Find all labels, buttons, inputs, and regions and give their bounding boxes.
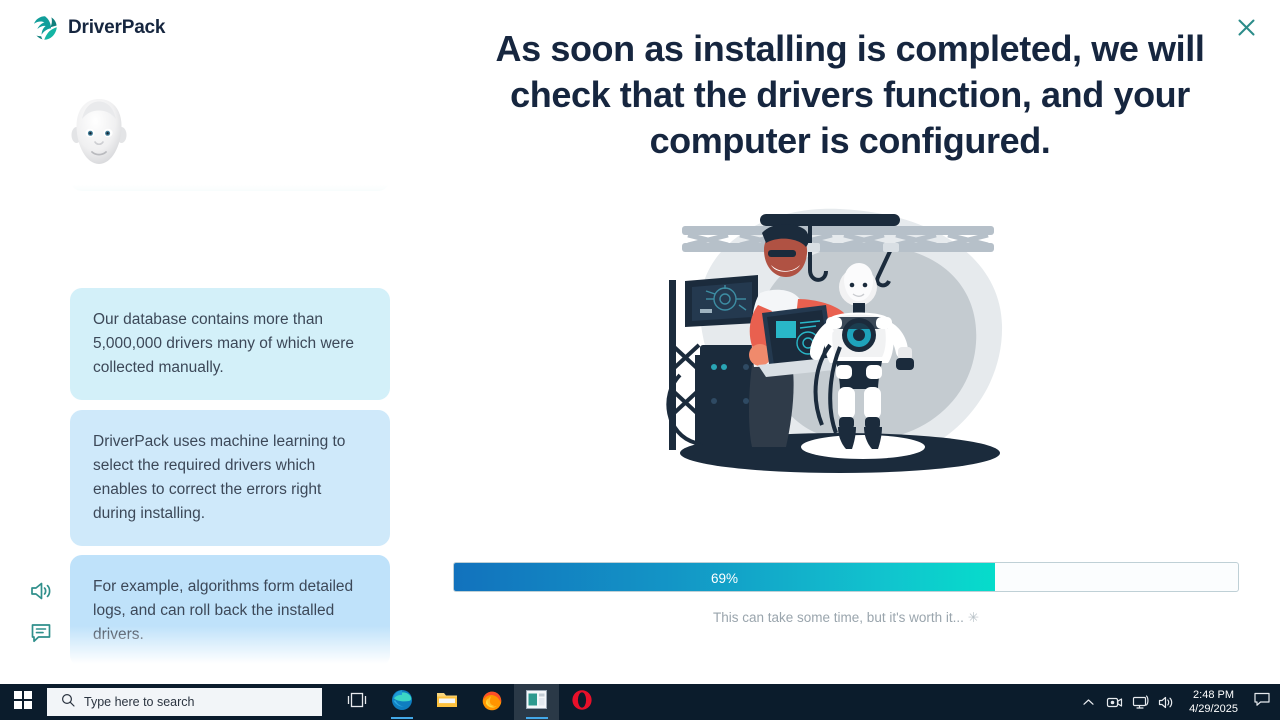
avatar bbox=[68, 97, 130, 169]
task-view-button[interactable] bbox=[334, 684, 379, 720]
search-icon bbox=[61, 693, 75, 712]
chat-bubble-list[interactable]: of tea so far. Our database contains mor… bbox=[0, 185, 420, 684]
chat-bubble: of tea so far. bbox=[70, 185, 390, 191]
chevron-up-icon[interactable] bbox=[1075, 684, 1101, 720]
driverpack-globe-icon bbox=[32, 15, 58, 41]
system-tray: 2:48 PM 4/29/2025 bbox=[1075, 684, 1280, 720]
page-title: As soon as installing is completed, we w… bbox=[455, 26, 1245, 164]
search-input-value: Type here to search bbox=[84, 695, 194, 709]
screen-record-icon[interactable] bbox=[1101, 684, 1127, 720]
progress-percent-label: 69% bbox=[454, 563, 995, 592]
network-icon[interactable] bbox=[1127, 684, 1153, 720]
taskbar-app-list bbox=[334, 684, 604, 720]
sound-icon[interactable] bbox=[30, 580, 52, 602]
chat-bubble-text: DriverPack uses machine learning to sele… bbox=[93, 433, 345, 522]
assistant-chat-panel: of tea so far. Our database contains mor… bbox=[0, 80, 420, 684]
opera-icon bbox=[571, 689, 593, 716]
progress-note: This can take some time, but it's worth … bbox=[453, 610, 1239, 626]
robot-technician-illustration bbox=[640, 195, 1040, 505]
firefox-button[interactable] bbox=[469, 684, 514, 720]
clock[interactable]: 2:48 PM 4/29/2025 bbox=[1179, 684, 1248, 720]
task-view-icon bbox=[347, 691, 367, 714]
progress-note-text: This can take some time, but it's worth … bbox=[713, 610, 964, 625]
notification-button[interactable] bbox=[1248, 684, 1276, 720]
chat-bubble-text: For example, algorithms form detailed lo… bbox=[93, 578, 353, 643]
progress-bar[interactable]: 69% bbox=[453, 562, 1239, 592]
start-button[interactable] bbox=[0, 684, 46, 720]
driverpack-installer-button[interactable] bbox=[514, 684, 559, 720]
chat-bubble-text: Our database contains more than 5,000,00… bbox=[93, 311, 354, 376]
search-input[interactable]: Type here to search bbox=[47, 688, 322, 716]
firefox-icon bbox=[481, 689, 503, 716]
clock-time: 2:48 PM bbox=[1193, 688, 1234, 702]
driverpack-installer-window: DriverPack bbox=[0, 0, 1280, 684]
microsoft-edge-icon bbox=[391, 689, 413, 716]
windows-start-icon bbox=[14, 691, 32, 714]
file-explorer-button[interactable] bbox=[424, 684, 469, 720]
chat-bubble: Our database contains more than 5,000,00… bbox=[70, 288, 390, 400]
avatar-head-icon bbox=[68, 97, 130, 169]
sparkle-icon: ✳ bbox=[968, 610, 979, 625]
taskbar: Type here to search bbox=[0, 684, 1280, 720]
main-panel: As soon as installing is completed, we w… bbox=[420, 0, 1280, 684]
file-explorer-icon bbox=[436, 690, 458, 714]
brand-name: DriverPack bbox=[68, 17, 165, 39]
microsoft-edge-button[interactable] bbox=[379, 684, 424, 720]
volume-icon[interactable] bbox=[1153, 684, 1179, 720]
notification-icon bbox=[1254, 692, 1270, 712]
chat-bubble: DriverPack uses machine learning to sele… bbox=[70, 410, 390, 546]
driverpack-installer-icon bbox=[526, 690, 547, 714]
chat-bubble: For example, algorithms form detailed lo… bbox=[70, 555, 390, 667]
progress-section: 69% This can take some time, but it's wo… bbox=[453, 562, 1239, 626]
sidebar-icon-group bbox=[30, 580, 52, 644]
chat-icon[interactable] bbox=[30, 622, 52, 644]
screen: DriverPack bbox=[0, 0, 1280, 720]
clock-date: 4/29/2025 bbox=[1189, 702, 1238, 716]
opera-button[interactable] bbox=[559, 684, 604, 720]
brand: DriverPack bbox=[32, 15, 165, 41]
